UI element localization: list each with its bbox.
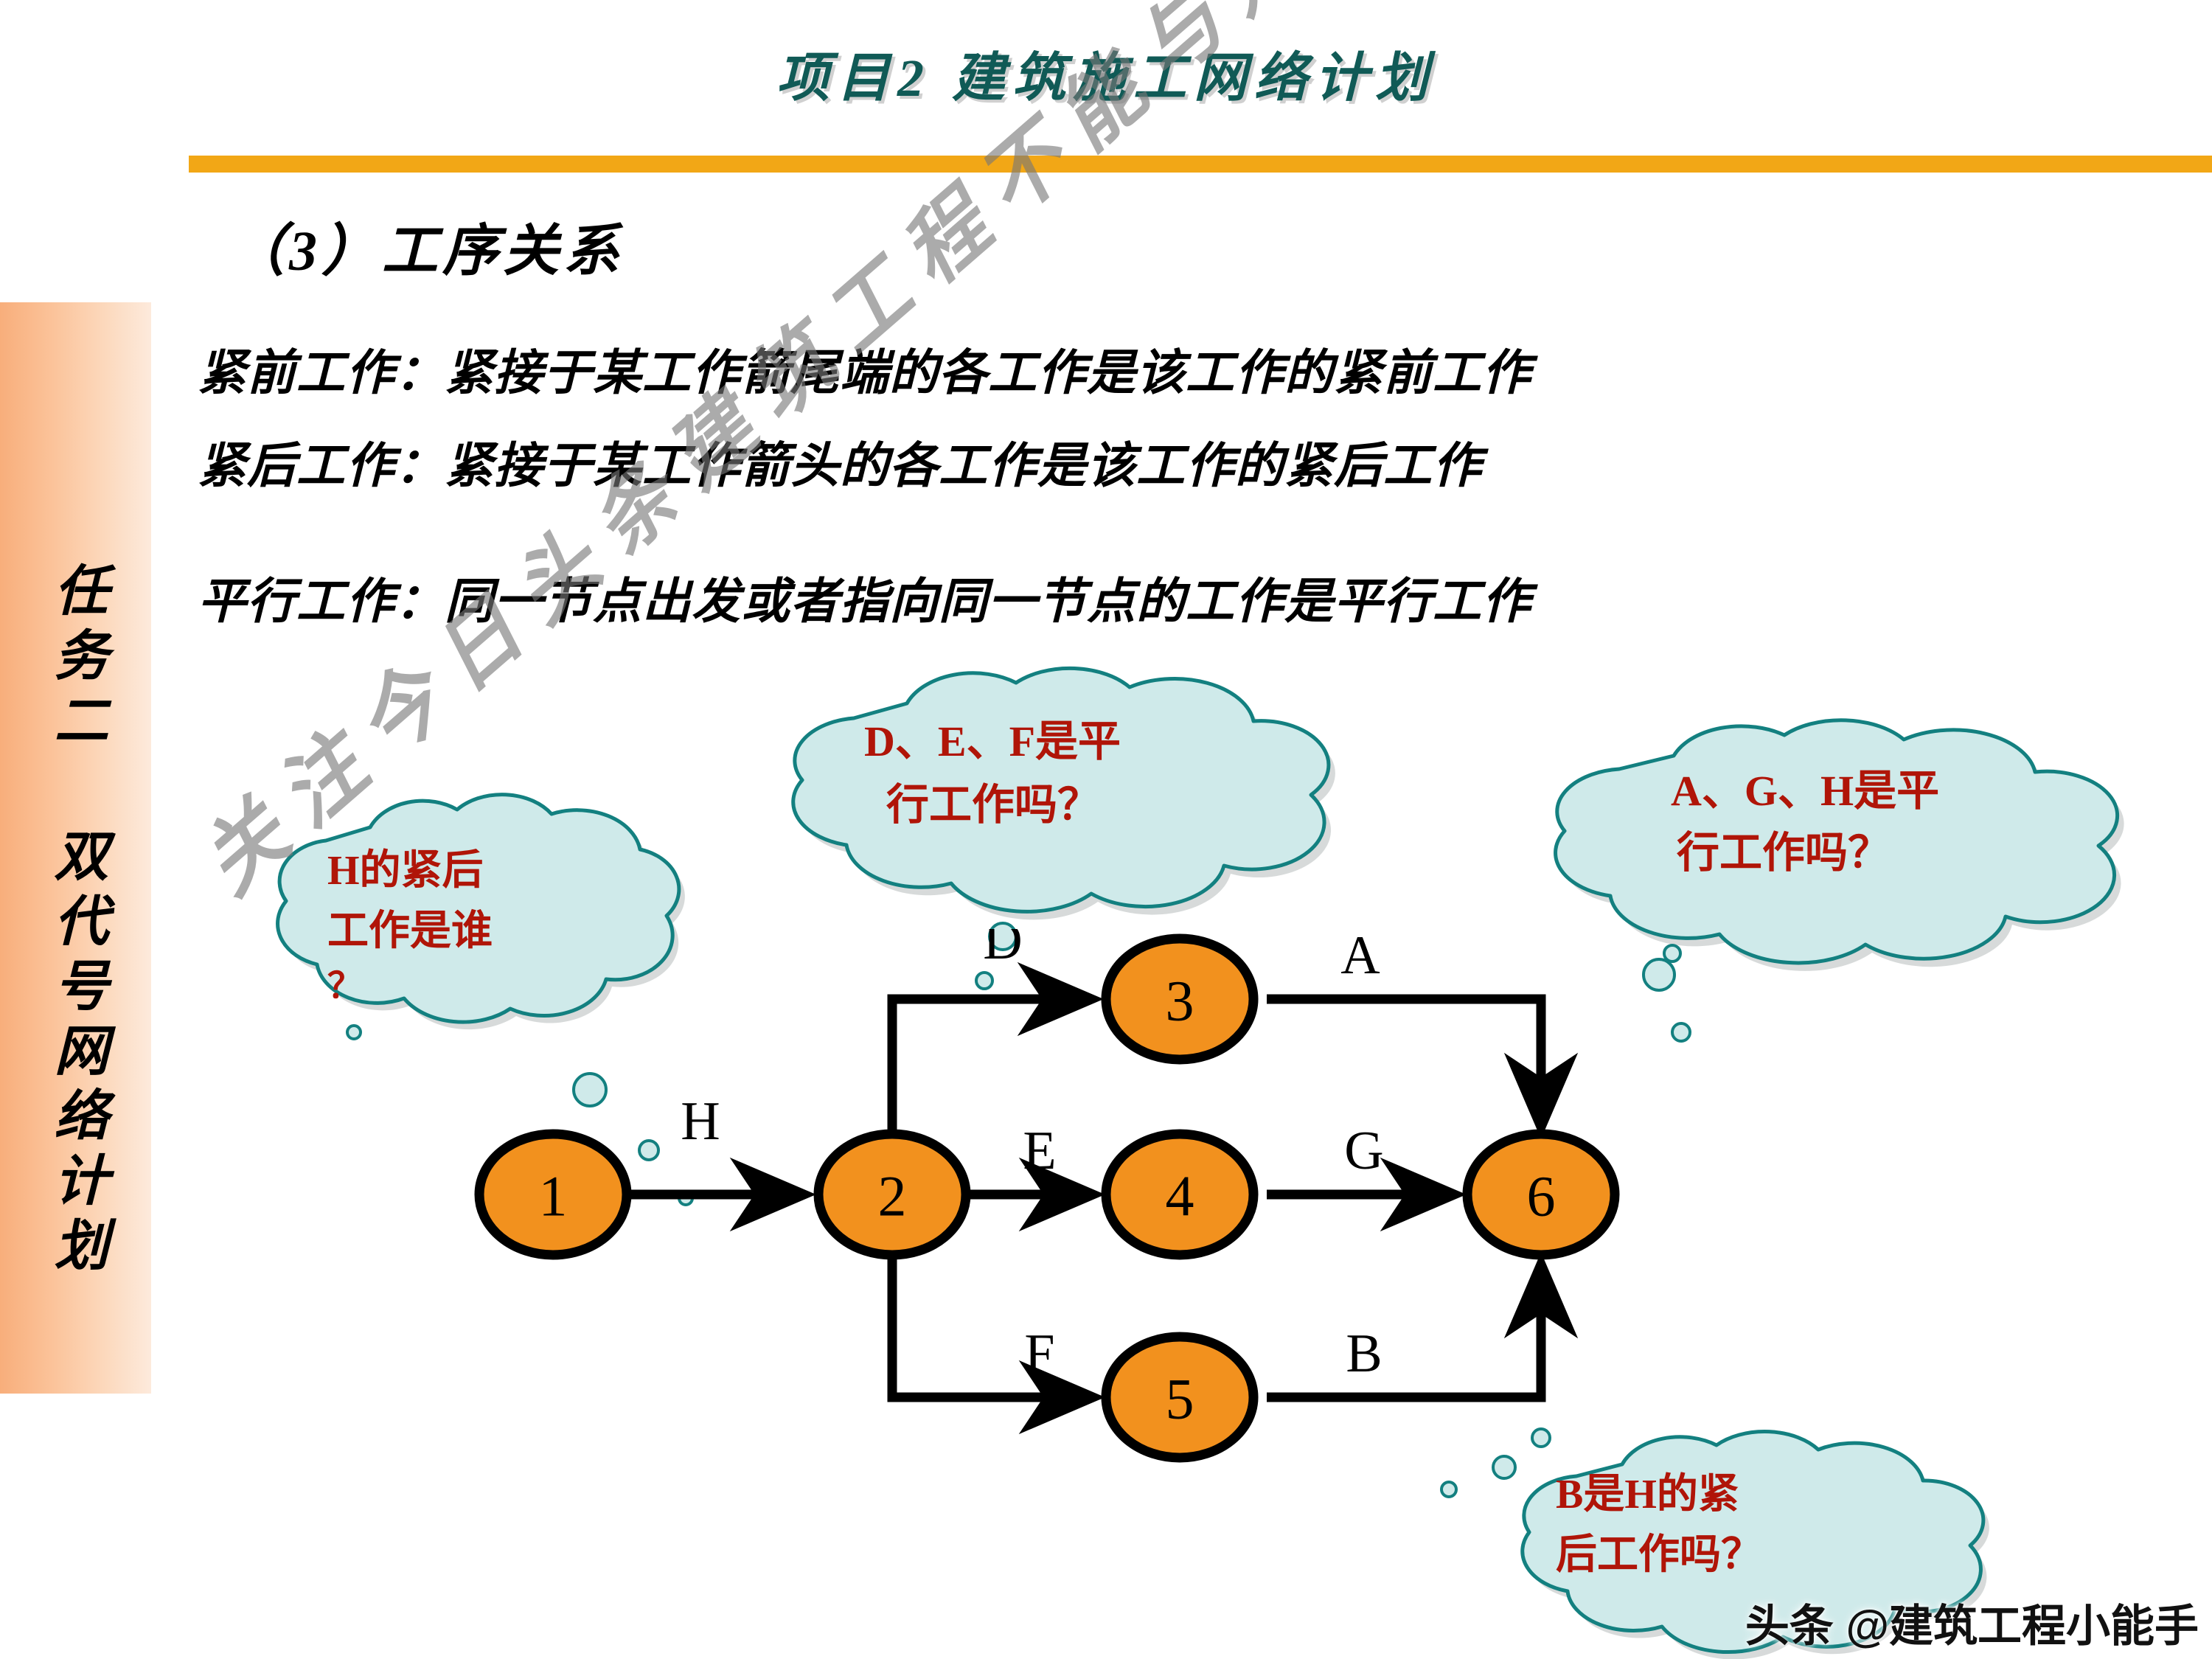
section-heading: （3）工序关系 [229, 205, 624, 286]
definition-line-successor: 紧后工作：紧接于某工作箭头的各工作是该工作的紧后工作 [198, 426, 1482, 497]
cloud-h-successor-text-3: ？ [327, 966, 363, 1008]
edge-b-line [1267, 1265, 1541, 1397]
side-banner: 任务二 双代号网络计划 [0, 302, 151, 1394]
node-3-label: 3 [1166, 969, 1194, 1033]
edge-d-label: D [983, 929, 1022, 971]
definition-line-parallel: 平行工作：同一节点出发或者指向同一节点的工作是平行工作 [198, 562, 1531, 633]
definition-line-predecessor: 紧前工作：紧接于某工作箭尾端的各工作是该工作的紧前工作 [198, 333, 1531, 404]
edge-d-line [892, 999, 1091, 1144]
network-diagram: 1 2 3 4 5 6 H D E F A G B [413, 929, 1696, 1475]
cloud-def-text-1: D、E、F是平 [864, 717, 1121, 767]
cloud-h-successor-text: H的紧后 [327, 846, 484, 895]
edge-a-label: A [1340, 929, 1380, 986]
edge-g-label: G [1344, 1121, 1383, 1181]
cloud-def-text-2: 行工作吗？ [886, 780, 1100, 830]
edge-b-label: B [1346, 1324, 1382, 1384]
cloud-b-text-1: B是H的紧 [1556, 1470, 1739, 1519]
node-1-label: 1 [539, 1164, 568, 1228]
edge-h-label: H [681, 1091, 720, 1152]
cloud-b-text-2: 后工作吗？ [1556, 1531, 1762, 1579]
callout-cloud-def-parallel: D、E、F是平 行工作吗？ [767, 672, 1371, 923]
side-banner-label: 任务二 双代号网络计划 [0, 302, 151, 1394]
cloud-agh-text-1: A、G、H是平 [1671, 766, 1939, 816]
edge-e-label: E [1023, 1121, 1056, 1181]
page-title: 项目2 建筑施工网络计划 [0, 34, 2212, 111]
cloud-agh-text-2: 行工作吗？ [1677, 828, 1891, 878]
node-4-label: 4 [1166, 1164, 1194, 1228]
edge-f-label: F [1024, 1324, 1054, 1384]
edge-a-line [1267, 999, 1541, 1127]
node-2-label: 2 [878, 1164, 907, 1228]
edge-f-line [892, 1246, 1093, 1397]
node-5-label: 5 [1166, 1367, 1194, 1431]
title-divider [189, 156, 2212, 173]
corner-watermark: 头条 @建筑工程小能手 [1745, 1590, 2199, 1655]
node-6-label: 6 [1527, 1164, 1556, 1228]
diagram-edges [625, 999, 1541, 1397]
